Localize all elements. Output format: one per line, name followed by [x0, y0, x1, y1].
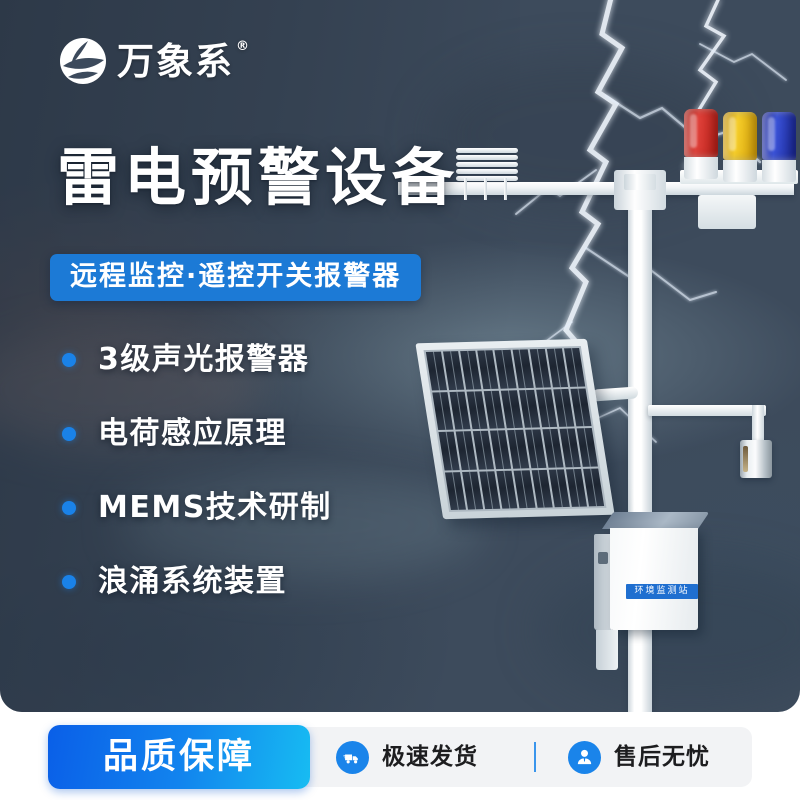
feature-label: 电荷感应原理	[98, 419, 287, 449]
list-item: 浪涌系统装置	[62, 567, 332, 597]
weather-station-equipment: 环境监测站	[400, 110, 800, 712]
quality-badge: 品质保障	[48, 725, 310, 789]
trust-item-fast-delivery: 极速发货	[336, 741, 478, 774]
control-box-bracket	[596, 630, 618, 670]
feature-list: 3级声光报警器 电荷感应原理 MEMS技术研制 浪涌系统装置	[62, 345, 332, 597]
subtitle-badge: 远程监控·遥控开关报警器	[50, 254, 421, 301]
quality-badge-label: 品质保障	[103, 740, 255, 775]
feature-label: MEMS技术研制	[98, 493, 332, 523]
control-box-top	[602, 512, 709, 529]
yellow-alarm-beacon	[723, 112, 757, 182]
delivery-truck-icon	[336, 741, 369, 774]
radiation-shield-sensor	[456, 148, 518, 182]
control-box-face: 环境监测站	[610, 528, 698, 630]
trust-item-label: 售后无忧	[614, 746, 710, 769]
trust-item-after-sales: 售后无忧	[568, 741, 710, 774]
bullet-dot-icon	[62, 575, 76, 589]
control-box-vent	[598, 552, 608, 564]
customer-service-icon	[568, 741, 601, 774]
list-item: MEMS技术研制	[62, 493, 332, 523]
list-item: 电荷感应原理	[62, 419, 332, 449]
registered-trademark-icon: ®	[236, 40, 251, 53]
swirl-sphere-logo-icon	[58, 36, 108, 86]
red-alarm-beacon	[684, 109, 718, 179]
page-title: 雷电预警设备	[57, 145, 459, 210]
blue-alarm-beacon	[762, 112, 796, 182]
trust-divider	[534, 742, 536, 772]
solar-panel	[415, 339, 614, 519]
shield-support-legs	[464, 178, 516, 200]
trust-bar: 品质保障 极速发货 售后无忧	[0, 712, 800, 800]
sensor-support-arm	[648, 405, 766, 416]
bullet-dot-icon	[62, 501, 76, 515]
control-box-label: 环境监测站	[626, 584, 698, 599]
brand-logo: 万象系®	[58, 36, 234, 86]
feature-label: 3级声光报警器	[98, 345, 309, 375]
beacon-junction-box	[698, 195, 756, 229]
control-box-label-text: 环境监测站	[634, 587, 689, 596]
bullet-dot-icon	[62, 353, 76, 367]
list-item: 3级声光报警器	[62, 345, 332, 375]
brand-name: 万象系®	[117, 43, 234, 80]
solar-cell-grid	[424, 346, 607, 512]
trust-item-label: 极速发货	[382, 746, 478, 769]
hero-banner: 环境监测站 万象系® 雷电预警设备 远程监控·遥控开关报警器 3级声光报警器	[0, 0, 800, 712]
station-mast-pole	[628, 182, 652, 712]
control-box: 环境监测站	[602, 512, 698, 630]
cylindrical-sensor	[740, 440, 772, 478]
bullet-dot-icon	[62, 427, 76, 441]
mast-cap	[624, 174, 656, 190]
feature-label: 浪涌系统装置	[98, 567, 287, 597]
